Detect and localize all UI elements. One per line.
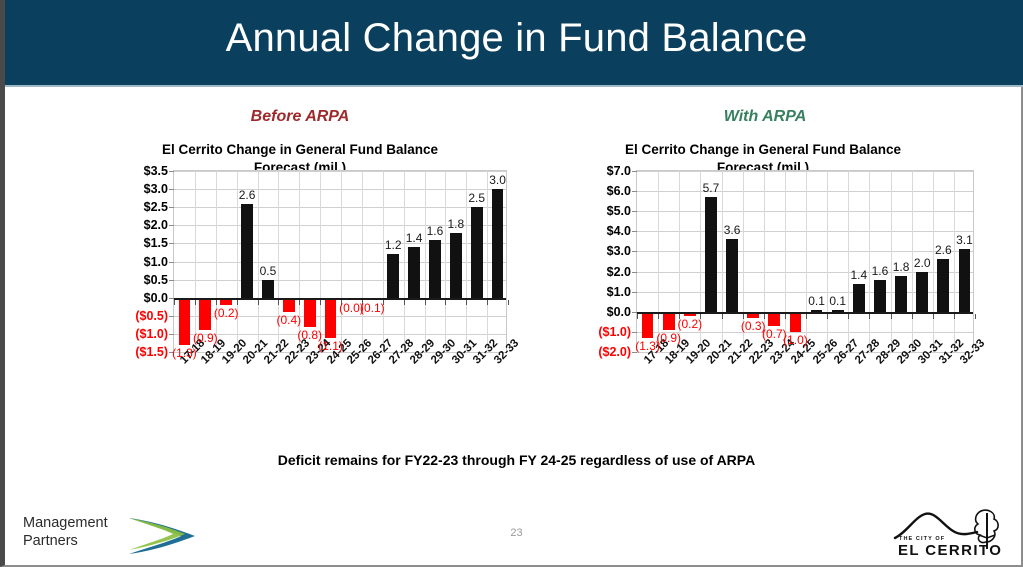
gridline-vertical [466,171,467,351]
y-axis-label: $0.0 [88,291,168,305]
gridline [637,251,973,252]
bar [726,239,738,311]
bar-value-label: 1.8 [447,217,464,231]
gridline-vertical [404,171,405,351]
bar-value-label: (1.1) [318,339,343,353]
gridline-vertical [869,171,870,351]
bar [937,259,949,311]
gridline-vertical [445,171,446,351]
y-axis-label: $2.0 [551,265,631,279]
bar-value-label: (0.4) [276,313,301,327]
y-axis-label: $1.0 [551,285,631,299]
zero-axis-line [637,312,973,314]
gridline-vertical [912,171,913,351]
bar-value-label: (0.1) [360,301,385,315]
bar-value-label: 2.6 [239,188,256,202]
gridline [174,207,506,208]
y-axis-label: ($1.0) [551,325,631,339]
bar-value-label: 1.2 [385,238,402,252]
y-axis-tickmark [632,211,637,212]
bar-value-label: 1.4 [850,268,867,282]
y-axis-label: $1.5 [88,236,168,250]
chart-title-right-line1: El Cerrito Change in General Fund Balanc… [553,141,973,159]
gridline-vertical [933,171,934,351]
y-axis-tickmark [632,272,637,273]
gridline-vertical [425,171,426,351]
y-axis-tickmark [169,171,174,172]
chart-with-arpa: $7.0$6.0$5.0$4.0$3.0$2.0$1.0$0.0($1.0)($… [526,170,986,385]
bar [241,204,253,298]
bar-value-label: 2.0 [914,256,931,270]
y-axis-label: $5.0 [551,204,631,218]
gridline-vertical [341,171,342,351]
bar [895,276,907,312]
gridline [174,334,506,335]
bar-value-label: 1.6 [427,224,444,238]
gridline [637,211,973,212]
gridline-vertical [195,171,196,351]
bar-value-label: (0.2) [677,317,702,331]
bar-value-label: 1.6 [872,264,889,278]
bar [408,247,420,298]
bar-value-label: (1.3) [172,346,197,360]
bar [492,189,504,298]
bar [387,254,399,297]
y-axis-tickmark [169,316,174,317]
gridline-vertical [258,171,259,351]
y-axis-tickmark [169,262,174,263]
bar-value-label: 1.4 [406,231,423,245]
y-axis-label: $3.0 [88,182,168,196]
bar-value-label: 3.1 [956,233,973,247]
y-axis-label: $3.5 [88,164,168,178]
y-axis-tickmark [169,280,174,281]
y-axis-tickmark [632,292,637,293]
bar-value-label: (0.9) [656,331,681,345]
page-number: 23 [5,527,1023,539]
gridline-vertical [216,171,217,351]
bar-value-label: 0.5 [260,264,277,278]
y-axis-tickmark [632,231,637,232]
bar [262,280,274,298]
gridline-vertical [487,171,488,351]
gridline [637,171,973,172]
gridline [637,191,973,192]
y-axis-label: ($1.0) [88,327,168,341]
bar-value-label: 3.6 [724,223,741,237]
y-axis-tickmark [169,207,174,208]
gridline-vertical [658,171,659,351]
bar [471,207,483,298]
y-axis-tickmark [169,243,174,244]
y-axis-tickmark [632,332,637,333]
y-axis-label: $0.0 [551,305,631,319]
bar-value-label: (1.0) [783,333,808,347]
gridline-vertical [362,171,363,351]
gridline-vertical [806,171,807,351]
bar [853,284,865,312]
slide: Annual Change in Fund Balance Before ARP… [0,0,1023,567]
bar-value-label: (0.2) [214,306,239,320]
el-cerrito-logo-name: EL CERRITO [898,542,1002,559]
bar-value-label: (0.9) [193,331,218,345]
panel-tag-before-arpa: Before ARPA [170,108,430,126]
gridline-vertical [827,171,828,351]
y-axis-tickmark [169,334,174,335]
gridline-vertical [722,171,723,351]
bar-value-label: 3.0 [489,173,506,187]
gridline-vertical [320,171,321,351]
slide-caption: Deficit remains for FY22-23 through FY 2… [5,452,1023,468]
y-axis-tickmark [632,171,637,172]
gridline-vertical [848,171,849,351]
plot-area-right: $7.0$6.0$5.0$4.0$3.0$2.0$1.0$0.0($1.0)($… [636,170,974,351]
gridline [174,189,506,190]
y-axis-label: ($0.5) [88,309,168,323]
y-axis-label: $2.5 [88,200,168,214]
chart-title-left-line1: El Cerrito Change in General Fund Balanc… [90,141,510,159]
bar [874,280,886,312]
plot-area-left: $3.5$3.0$2.5$2.0$1.5$1.0$0.5$0.0($0.5)($… [173,170,507,351]
y-axis-tickmark [169,189,174,190]
bar [705,197,717,312]
gridline [637,231,973,232]
gridline-vertical [383,171,384,351]
el-cerrito-logo: THE CITY OF EL CERRITO [893,505,1013,563]
y-axis-tickmark [632,251,637,252]
y-axis-label: $3.0 [551,244,631,258]
y-axis-label: $6.0 [551,184,631,198]
y-axis-label: $4.0 [551,224,631,238]
bar-value-label: 2.6 [935,243,952,257]
bar [916,272,928,312]
y-axis-label: $1.0 [88,255,168,269]
bar [450,233,462,298]
zero-axis-line [174,298,506,300]
y-axis-tickmark [632,191,637,192]
bar-value-label: 1.8 [893,260,910,274]
y-axis-tickmark [169,225,174,226]
bar [179,298,191,345]
gridline-vertical [954,171,955,351]
y-axis-label: ($1.5) [88,345,168,359]
bar-value-label: 0.1 [829,294,846,308]
gridline [174,171,506,172]
bar-value-label: 0.1 [808,294,825,308]
header-divider [5,85,1023,87]
bar-value-label: 5.7 [703,181,720,195]
chart-before-arpa: $3.5$3.0$2.5$2.0$1.5$1.0$0.5$0.0($0.5)($… [65,170,515,385]
y-axis-label: $7.0 [551,164,631,178]
y-axis-label: $2.0 [88,218,168,232]
page-title: Annual Change in Fund Balance [5,16,1023,61]
bar-value-label: 2.5 [468,191,485,205]
bar [429,240,441,298]
y-axis-label: $0.5 [88,273,168,287]
bar [959,249,971,311]
panel-tag-with-arpa: With ARPA [635,108,895,126]
gridline-vertical [785,171,786,351]
y-axis-label: ($2.0) [551,345,631,359]
